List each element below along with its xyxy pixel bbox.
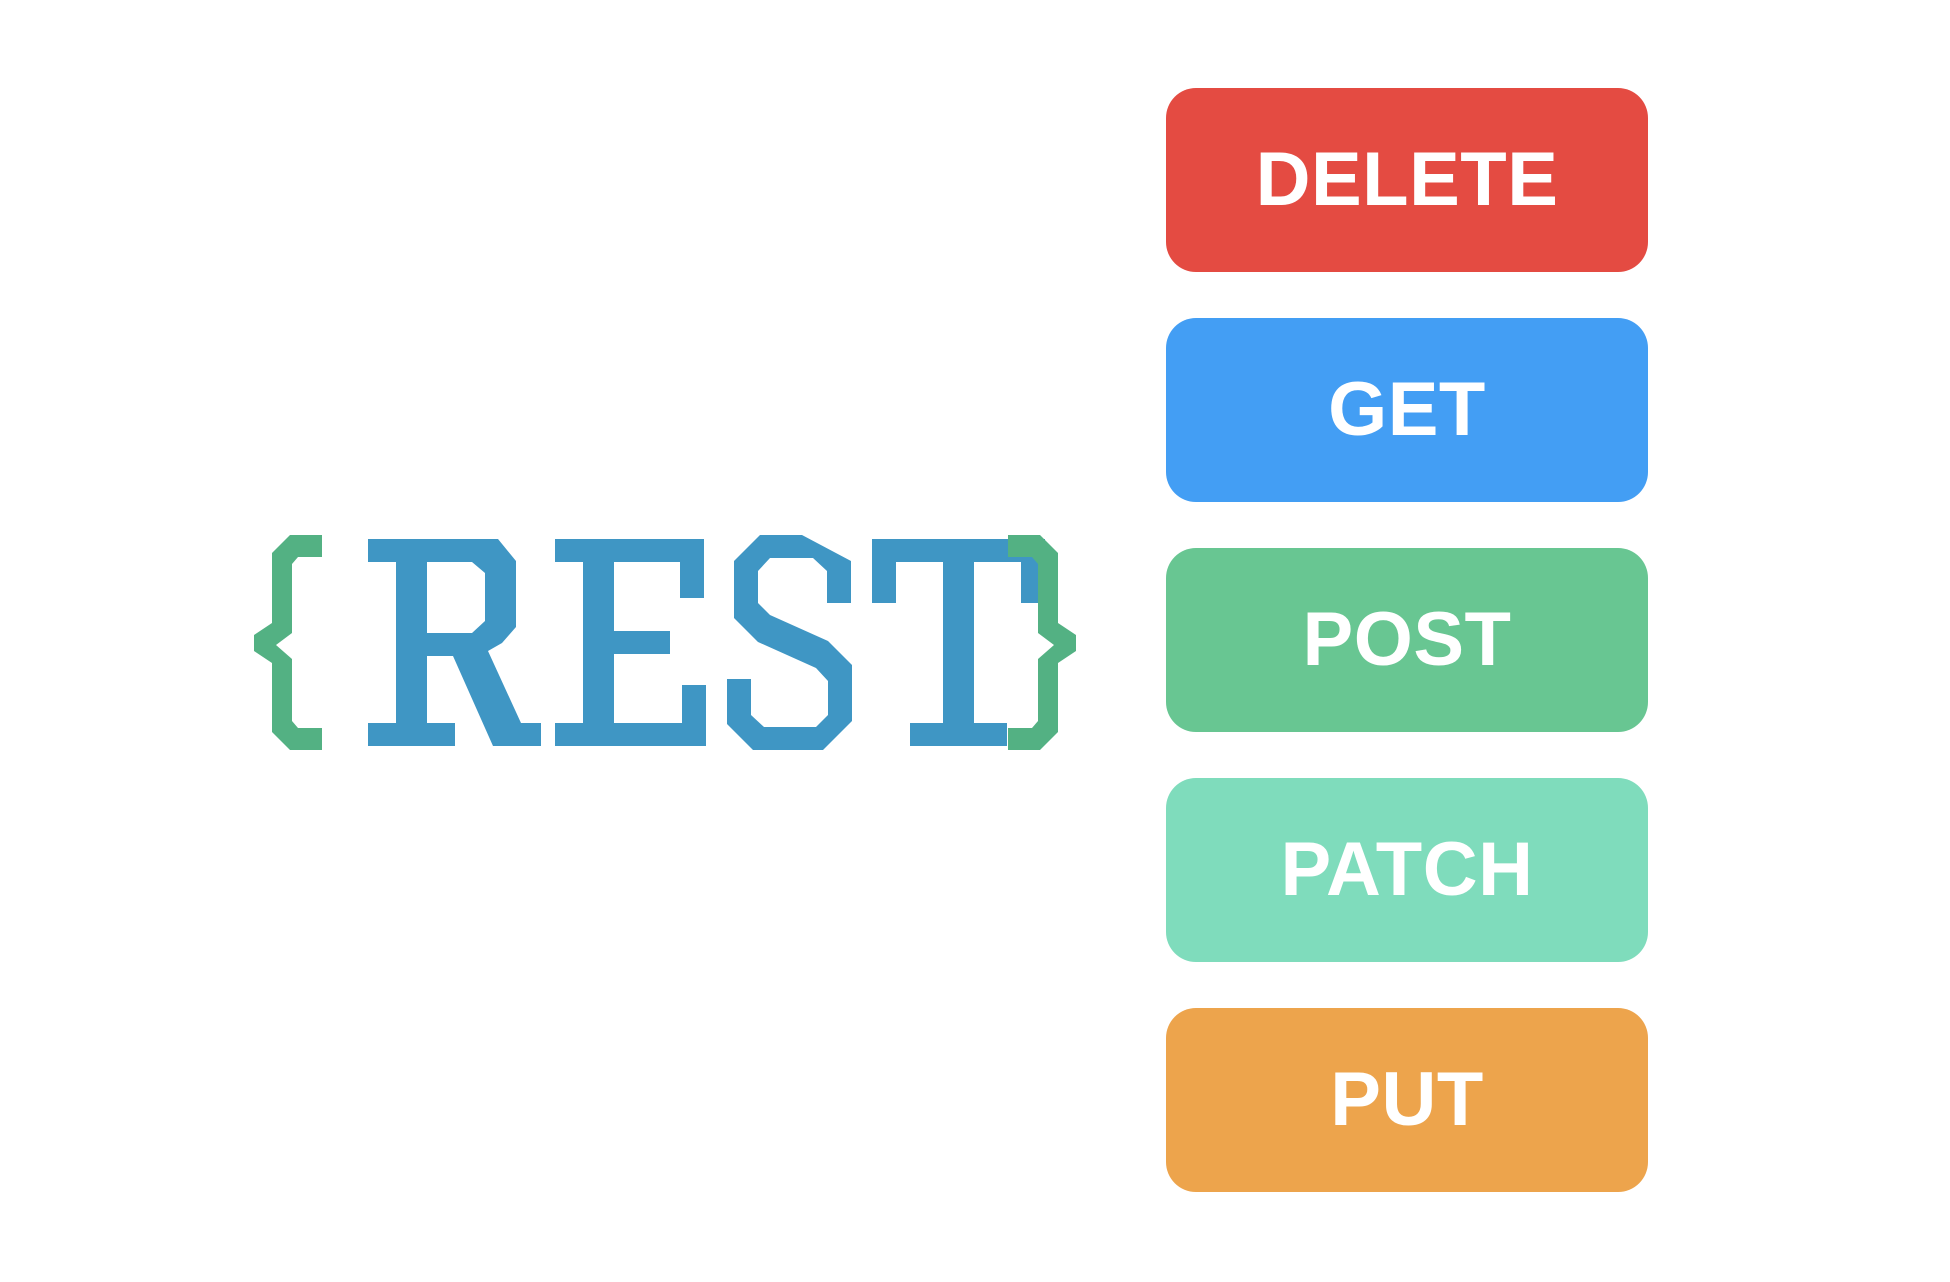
method-button-delete[interactable]: DELETE [1166,88,1648,272]
close-brace-icon [1008,535,1076,750]
method-button-patch[interactable]: PATCH [1166,778,1648,962]
http-method-list: DELETE GET POST PATCH PUT [1166,88,1648,1192]
logo-letter-t [872,539,1045,746]
method-button-put[interactable]: PUT [1166,1008,1648,1192]
logo-letter-r [368,539,541,746]
rest-logo [250,535,1080,750]
method-button-post[interactable]: POST [1166,548,1648,732]
open-brace-icon [254,535,322,750]
rest-logo-svg [250,535,1080,750]
canvas: DELETE GET POST PATCH PUT [0,0,1950,1282]
logo-letter-s [727,535,852,750]
method-button-get[interactable]: GET [1166,318,1648,502]
logo-letter-e [555,539,706,746]
